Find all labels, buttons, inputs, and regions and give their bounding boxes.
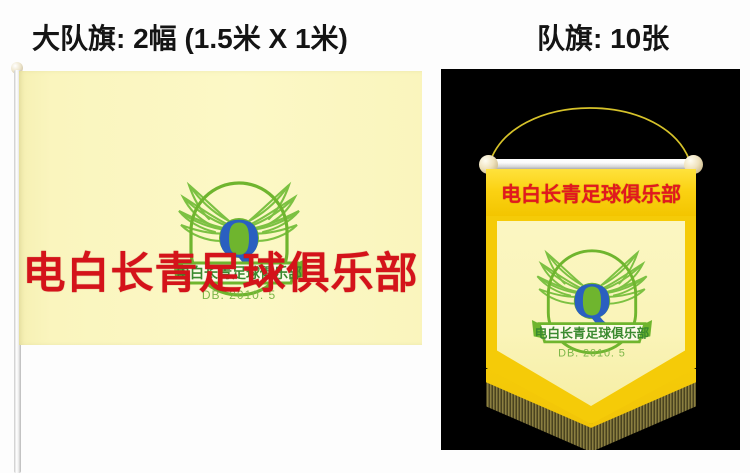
poster-canvas: 大队旗: 2幅 (1.5米 X 1米) 队旗: 10张	[0, 0, 750, 473]
heading-left-flag: 大队旗: 2幅 (1.5米 X 1米)	[32, 17, 348, 57]
pennant-club-name: 电白长青足球俱乐部	[501, 178, 681, 207]
large-club-flag: Q 电白长青足球俱乐部 DB. 2010. 5 电白长青足球俱乐部	[0, 60, 430, 473]
pennant-rod	[487, 159, 695, 170]
pennant-inner-field: Q 电白长青足球俱乐部 DB. 2010. 5	[497, 221, 685, 406]
pennant-title-band: 电白长青足球俱乐部	[486, 169, 696, 216]
logo-ribbon-text: 电白长青足球俱乐部	[535, 325, 650, 340]
logo-founded-text: DB. 2010. 5	[558, 347, 626, 359]
pennant-photo-panel: 电白长青足球俱乐部	[441, 69, 740, 450]
flag-club-name: 电白长青足球俱乐部	[19, 239, 422, 301]
svg-text:Q: Q	[572, 274, 612, 330]
club-logo: Q 电白长青足球俱乐部 DB. 2010. 5	[519, 229, 665, 361]
flag-cloth: Q 电白长青足球俱乐部 DB. 2010. 5 电白长青足球俱乐部	[19, 71, 422, 345]
heading-right-pennant: 队旗: 10张	[537, 17, 669, 57]
